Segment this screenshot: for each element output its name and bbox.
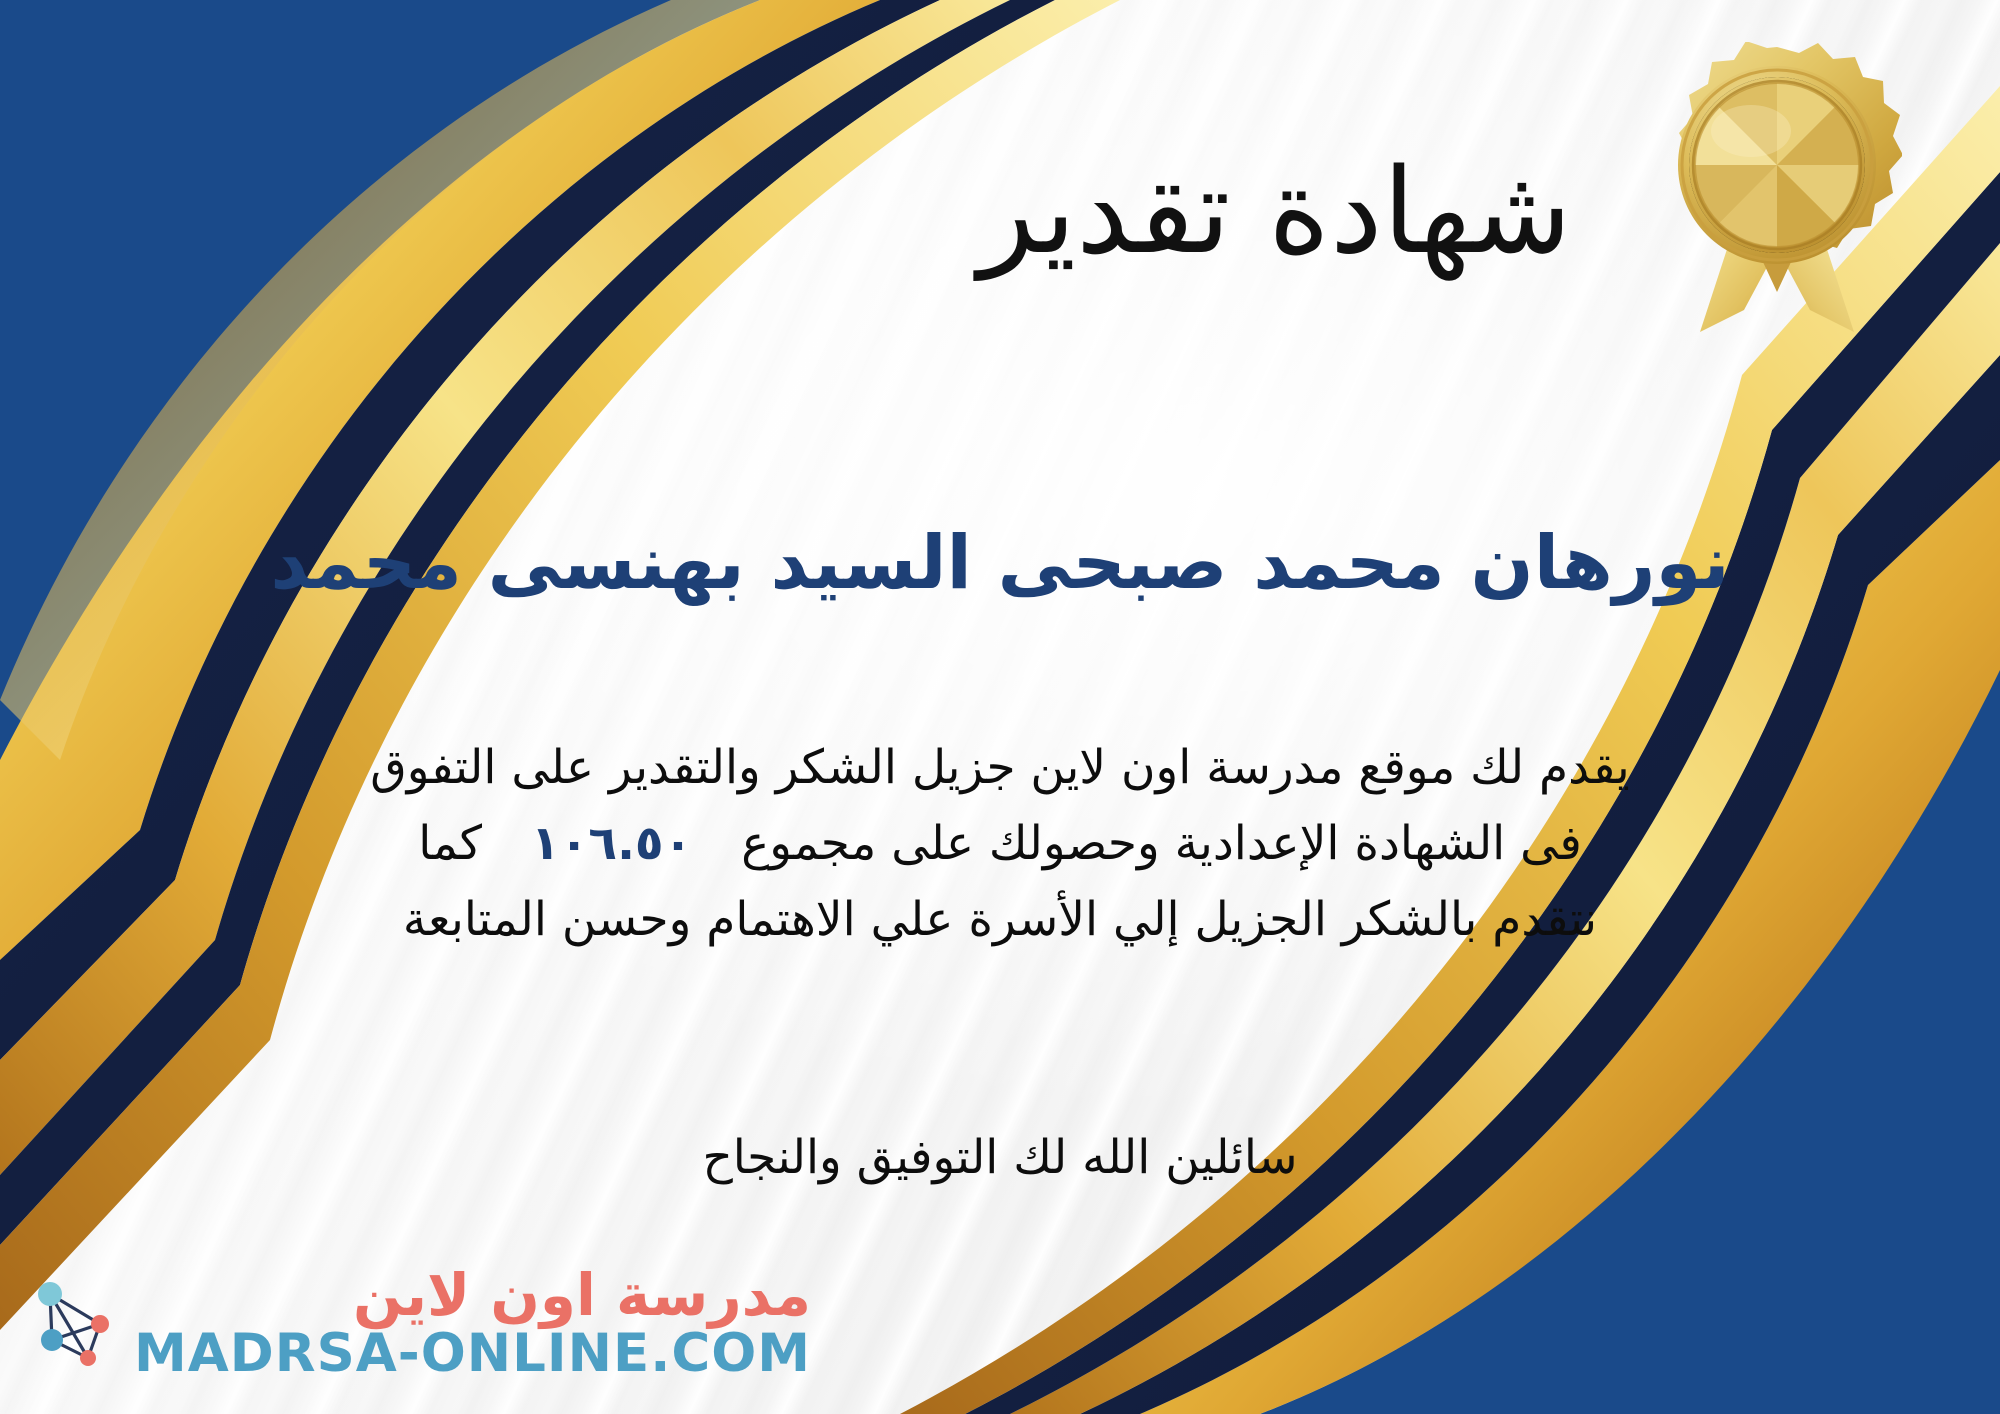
body-line-2: فى الشهادة الإعدادية وحصولك على مجموع ١٠…: [0, 806, 2000, 882]
network-nodes-icon: [28, 1272, 124, 1376]
recipient-name: نورهان محمد صبحى السيد بهنسى محمد: [0, 520, 2000, 607]
brand-text-block: مدرسة اون لاين MADRSA-ONLINE.COM: [134, 1265, 811, 1382]
body-line-2-text: فى الشهادة الإعدادية وحصولك على مجموع: [741, 816, 1582, 871]
certificate-body: يقدم لك موقع مدرسة اون لاين جزيل الشكر و…: [0, 730, 2000, 958]
certificate-content: شهادة تقدير نورهان محمد صبحى السيد بهنسى…: [0, 0, 2000, 1414]
certificate-title: شهادة تقدير: [550, 150, 2000, 274]
body-line-2-suffix: كما: [418, 816, 482, 871]
body-line-1: يقدم لك موقع مدرسة اون لاين جزيل الشكر و…: [0, 730, 2000, 806]
brand-arabic-name: مدرسة اون لاين: [353, 1265, 811, 1326]
brand-website: MADRSA-ONLINE.COM: [134, 1326, 811, 1382]
body-line-3: نتقدم بالشكر الجزيل إلي الأسرة علي الاهت…: [0, 882, 2000, 958]
brand-logo: مدرسة اون لاين MADRSA-ONLINE.COM: [28, 1265, 811, 1382]
closing-wish-line: سائلين الله لك التوفيق والنجاح: [0, 1130, 2000, 1185]
grade-total-value: ١٠٦.٥٠: [497, 816, 726, 871]
certificate-page: شهادة تقدير نورهان محمد صبحى السيد بهنسى…: [0, 0, 2000, 1414]
